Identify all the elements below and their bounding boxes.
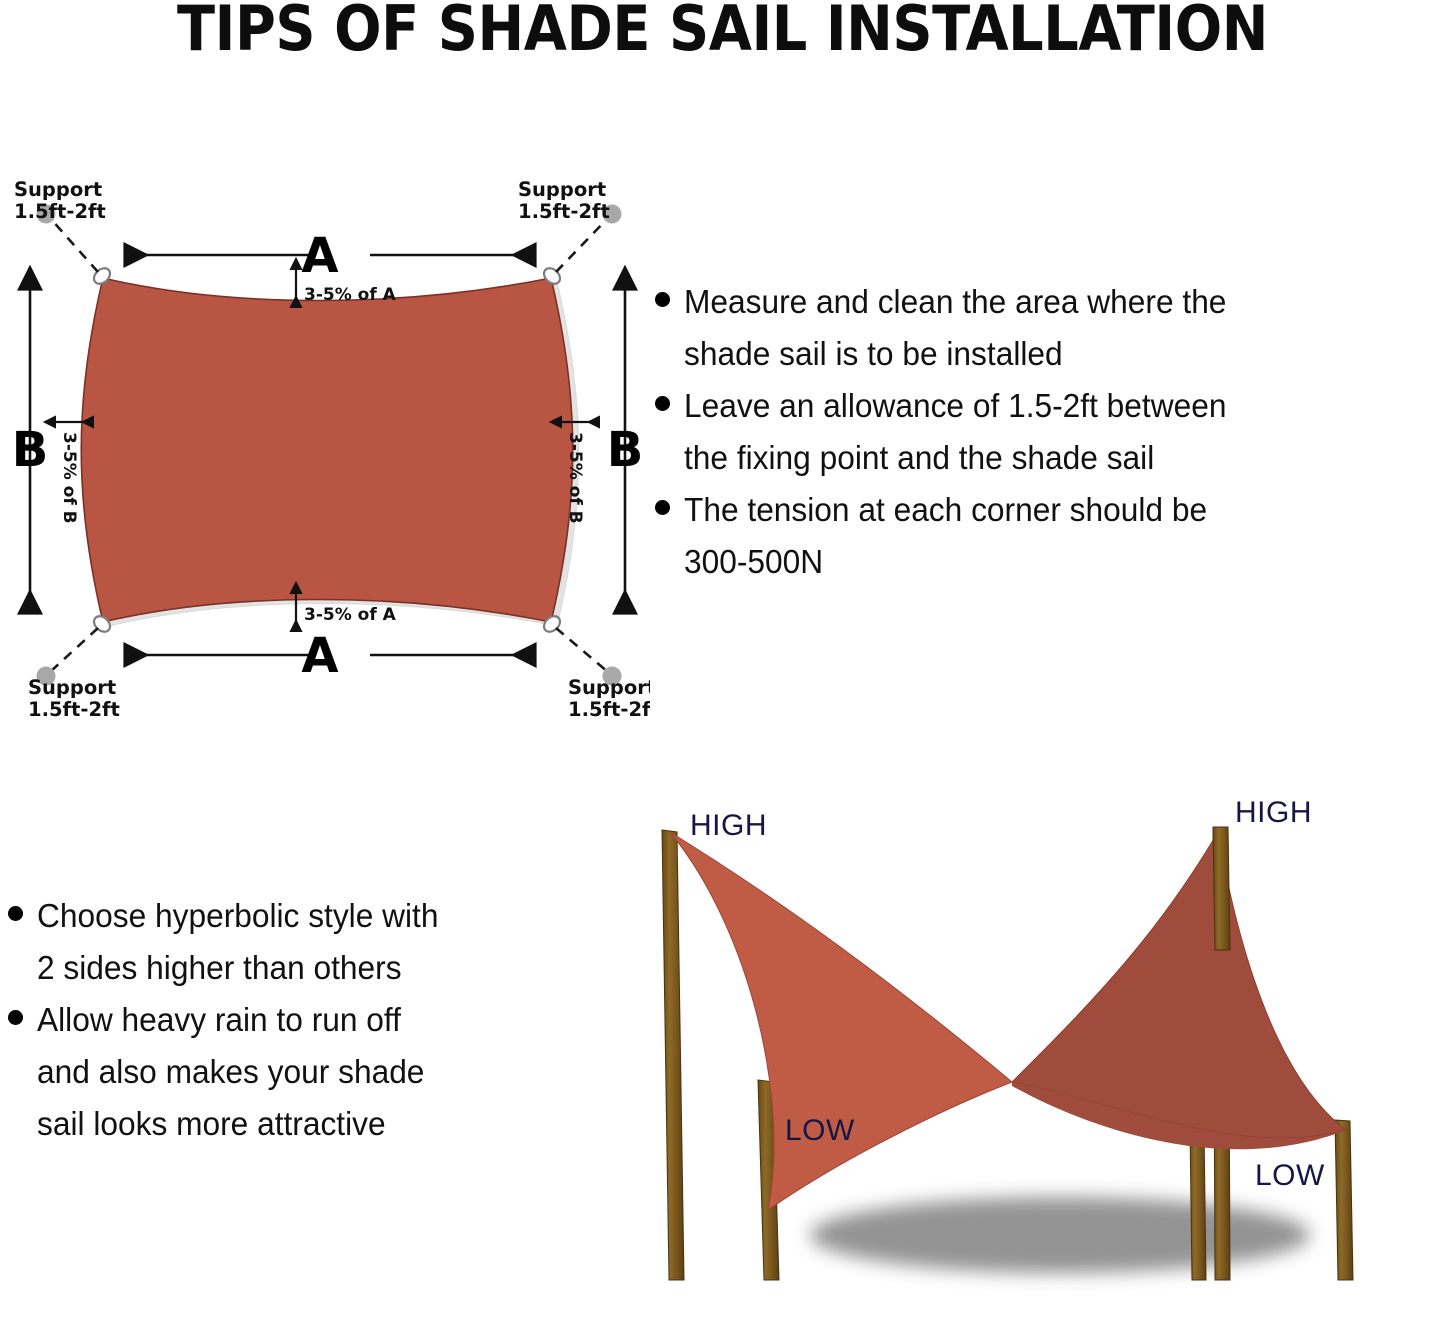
tip-text: Measure and clean the area where the sha… xyxy=(684,276,1226,380)
support-label-bottom-left-line2: 1.5ft-2ft xyxy=(28,698,120,721)
sag-b-right-label: 3-5% of B xyxy=(565,432,585,524)
installation-tips-right-column: Measure and clean the area where the sha… xyxy=(655,276,1445,588)
dimension-b-left-label: B xyxy=(12,422,49,478)
tip-text: Choose hyperbolic style with 2 sides hig… xyxy=(37,890,438,994)
post-low-far-right xyxy=(1335,1120,1353,1280)
support-label-bottom-right-line1: Support xyxy=(568,676,650,699)
dimension-b-right-label: B xyxy=(607,422,644,478)
tip-text: Allow heavy rain to run off and also mak… xyxy=(37,994,424,1150)
support-label-top-left-line2: 1.5ft-2ft xyxy=(14,200,106,223)
post-high-left xyxy=(662,830,684,1280)
label-high-left: HIGH xyxy=(690,809,767,842)
sail-panel-front xyxy=(670,832,1012,1210)
support-lead-top-left xyxy=(50,218,98,272)
bullet-dot-icon xyxy=(8,1010,23,1025)
list-item: Choose hyperbolic style with 2 sides hig… xyxy=(8,890,628,994)
label-low-left: LOW xyxy=(785,1114,855,1147)
support-label-top-right-line1: Support xyxy=(518,178,606,201)
support-label-bottom-left-line1: Support xyxy=(28,676,116,699)
sail-surface xyxy=(81,278,573,622)
bullet-dot-icon xyxy=(8,906,23,921)
installation-tips-lower-left-column: Choose hyperbolic style with 2 sides hig… xyxy=(8,890,628,1150)
bullet-dot-icon xyxy=(655,396,670,411)
support-label-top-right-line2: 1.5ft-2ft xyxy=(518,200,610,223)
support-label-top-left-line1: Support xyxy=(14,178,102,201)
infographic-root: TIPS OF SHADE SAIL INSTALLATION xyxy=(0,0,1445,1319)
support-lead-top-right xyxy=(556,218,608,272)
page-title: TIPS OF SHADE SAIL INSTALLATION xyxy=(72,0,1373,60)
list-item: Leave an allowance of 1.5-2ft between th… xyxy=(655,380,1445,484)
dimension-a-bottom-label: A xyxy=(301,628,338,684)
sail-panel-back xyxy=(1012,832,1346,1138)
bullet-dot-icon xyxy=(655,500,670,515)
bullet-dot-icon xyxy=(655,292,670,307)
post-high-right-front xyxy=(1213,827,1230,950)
support-lead-bottom-right xyxy=(556,628,608,672)
tip-text: The tension at each corner should be 300… xyxy=(684,484,1207,588)
tip-text: Leave an allowance of 1.5-2ft between th… xyxy=(684,380,1226,484)
hyperbolic-shade-sail-illustration: HIGH HIGH LOW LOW xyxy=(640,780,1445,1319)
support-lead-bottom-left xyxy=(50,628,98,672)
label-low-right: LOW xyxy=(1255,1159,1325,1192)
ground-shadow xyxy=(810,1197,1310,1273)
list-item: Measure and clean the area where the sha… xyxy=(655,276,1445,380)
dimension-a-top-label: A xyxy=(301,228,338,284)
sag-a-bottom-label: 3-5% of A xyxy=(304,605,397,625)
label-high-right: HIGH xyxy=(1235,796,1312,829)
sag-a-top-label: 3-5% of A xyxy=(304,285,397,305)
list-item: The tension at each corner should be 300… xyxy=(655,484,1445,588)
list-item: Allow heavy rain to run off and also mak… xyxy=(8,994,628,1150)
sag-b-left-label: 3-5% of B xyxy=(59,432,79,524)
support-label-bottom-right-line2: 1.5ft-2ft xyxy=(568,698,650,721)
rectangular-shade-sail-dimension-diagram: Support 1.5ft-2ft Support 1.5ft-2ft Supp… xyxy=(0,160,650,730)
